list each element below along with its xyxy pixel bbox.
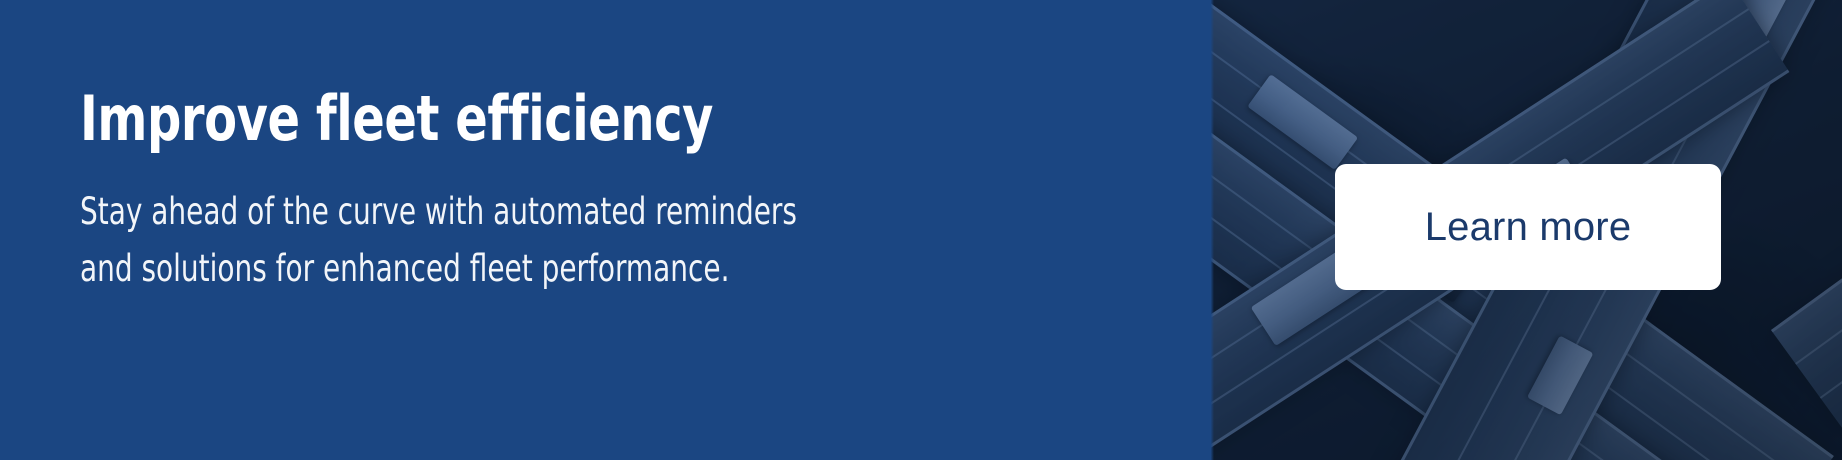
promo-banner: Improve fleet efficiency Stay ahead of t…: [0, 0, 1842, 460]
blue-copy-panel: Improve fleet efficiency Stay ahead of t…: [0, 0, 1211, 460]
subcopy-line-2: and solutions for enhanced fleet perform…: [80, 240, 970, 297]
subcopy-line-1: Stay ahead of the curve with automated r…: [80, 183, 970, 240]
panel-photo-seam: [1211, 0, 1214, 460]
subcopy: Stay ahead of the curve with automated r…: [80, 150, 970, 298]
learn-more-button-label: Learn more: [1425, 207, 1632, 247]
copy-block: Improve fleet efficiency Stay ahead of t…: [80, 88, 1140, 298]
learn-more-button[interactable]: Learn more: [1335, 164, 1721, 290]
page-title: Improve fleet efficiency: [80, 88, 992, 150]
